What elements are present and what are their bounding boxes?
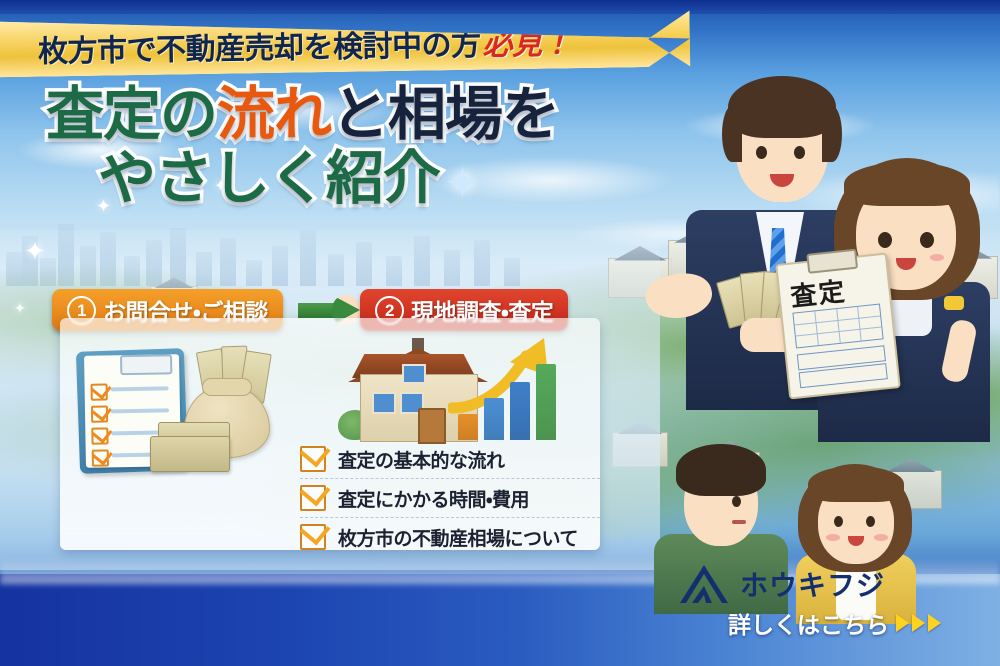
top-blue-band <box>0 0 1000 14</box>
agent-hair-side <box>722 106 742 162</box>
house-window <box>402 364 426 384</box>
checkbox-checked-icon <box>300 524 326 550</box>
checkbox-checked-icon <box>300 446 326 472</box>
growth-bar <box>536 364 556 440</box>
client-eye <box>834 516 843 527</box>
cta-arrows-icon <box>896 614 941 632</box>
house-and-growth-chart-illustration <box>330 336 580 448</box>
assessment-clipboard: 査定 <box>775 253 901 400</box>
logo[interactable]: ホウキフジ <box>678 562 885 606</box>
blush <box>826 534 840 541</box>
agent-hair <box>728 76 836 138</box>
sparkle-icon: ✦ <box>444 159 480 208</box>
headline-part-yasashiku: やさしく紹介 <box>98 146 440 211</box>
list-item: 査定にかかる時間・費用 <box>300 478 600 517</box>
money-bag-neck <box>202 378 252 396</box>
headline: 査定の流れと相場を やさしく紹介✦ <box>46 86 606 208</box>
agent-eye <box>756 146 767 159</box>
blush <box>874 534 888 541</box>
checklist-label-2: 査定にかかる時間・費用 <box>338 485 529 512</box>
clipboard-clasp <box>120 354 172 375</box>
checkbox-checked-icon <box>300 485 326 511</box>
agent-eye <box>794 146 805 159</box>
client-hair <box>676 444 766 496</box>
cash-bundle <box>150 436 230 472</box>
blush <box>930 254 944 261</box>
client-mouth <box>732 520 746 524</box>
agent-eye <box>878 232 892 248</box>
checklist-label-1: 査定の基本的な流れ <box>338 446 505 473</box>
headline-line-1: 査定の流れと相場を <box>46 86 606 144</box>
banner-root: ✦ ✦ ✦ ✦ 枚方市で不動産売却を検討中の方必見！ 査定の流れと相場を やさし… <box>0 0 1000 666</box>
client-bangs <box>808 466 904 502</box>
headline-part-satei: 査定の <box>46 82 217 147</box>
cta-text: 詳しくはこちら <box>728 606 889 640</box>
growth-bar <box>484 398 504 440</box>
logo-text: ホウキフジ <box>740 564 885 604</box>
lapel-badge <box>944 296 964 310</box>
list-item: 枚方市の不動産相場について <box>300 517 600 556</box>
house-door <box>418 408 446 444</box>
clipboard-and-money-illustration <box>72 344 277 474</box>
characters: 査定 <box>560 40 1000 560</box>
checklist-label-3: 枚方市の不動産相場について <box>338 524 578 551</box>
mountain-a-logo-icon <box>678 562 732 606</box>
cta-link[interactable]: 詳しくはこちら <box>728 606 941 640</box>
client-eye <box>732 496 741 507</box>
agent-bangs <box>844 162 970 206</box>
growth-bar <box>458 414 478 440</box>
client-eye <box>866 516 875 527</box>
headline-line-2: やさしく紹介✦ <box>98 150 606 208</box>
checklist: 査定の基本的な流れ 査定にかかる時間・費用 枚方市の不動産相場について <box>300 440 600 556</box>
clipboard-grid <box>792 303 883 348</box>
growth-bar <box>510 382 530 440</box>
headline-part-nagare: 流れ <box>217 82 331 147</box>
agent-eye <box>920 232 934 248</box>
house-window <box>372 392 396 414</box>
list-item: 査定の基本的な流れ <box>300 440 600 478</box>
headline-part-soba: と相場を <box>331 82 559 147</box>
clipboard-clasp <box>806 249 858 274</box>
